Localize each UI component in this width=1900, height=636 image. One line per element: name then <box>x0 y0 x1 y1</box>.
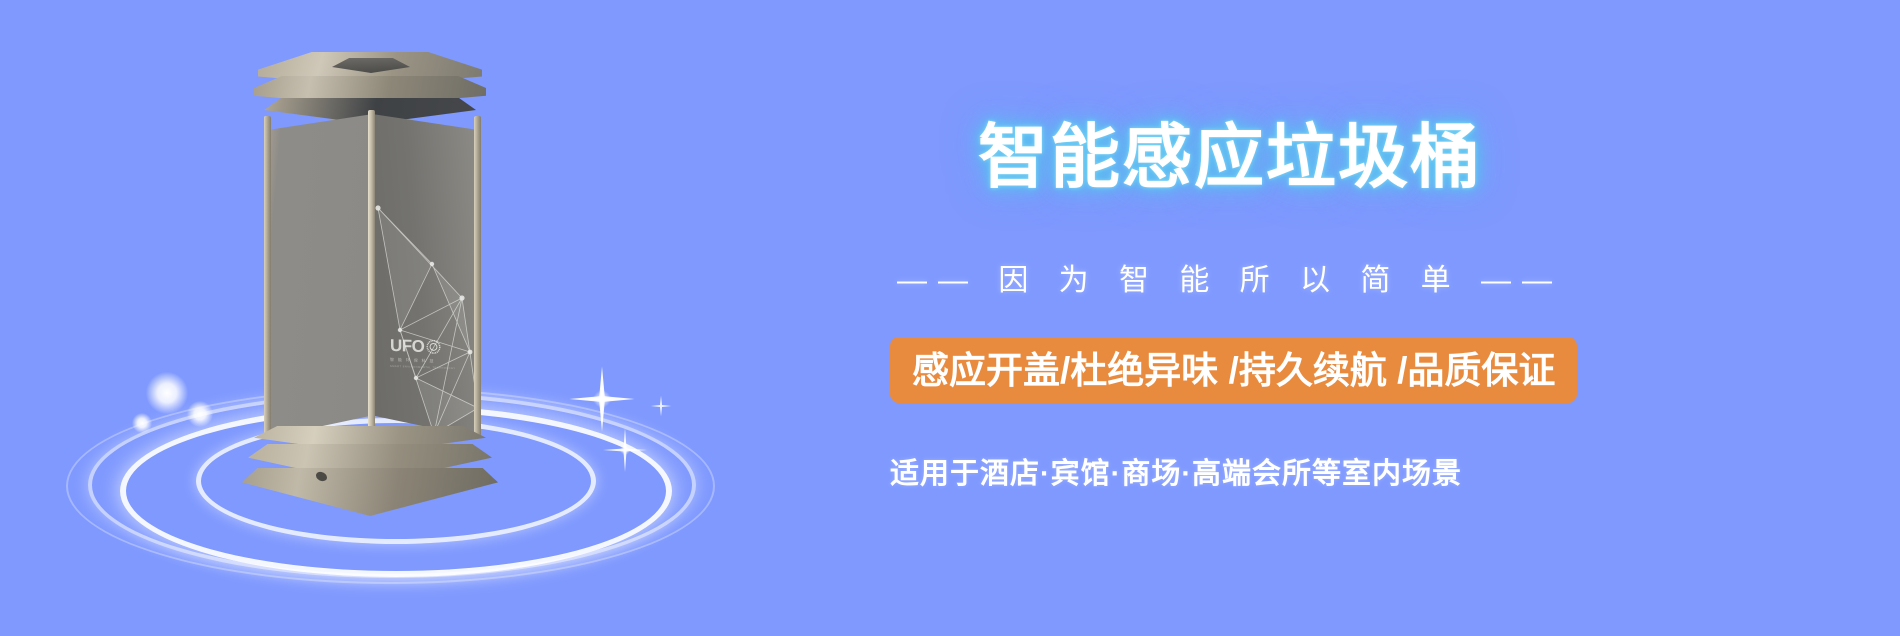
bin-corner-post-left <box>264 116 271 436</box>
product-promo-banner: UFO 智 能 环 保 科 技 SMART ENVIRONMENTAL TECH… <box>0 0 1900 636</box>
glow-dot-icon <box>187 401 213 427</box>
features-badge-label: 感应开盖/杜绝异味 /持久续航 /品质保证 <box>912 352 1555 389</box>
sparkle-star-icon <box>600 425 650 475</box>
subheadline: —— 因 为 智 能 所 以 简 单 —— <box>880 255 1580 299</box>
sparkle-star-icon <box>648 393 674 419</box>
sparkle-star-icon <box>568 365 636 433</box>
copy-block: 智能感应垃圾桶 —— 因 为 智 能 所 以 简 单 —— 感应开盖/杜绝异味 … <box>880 0 1890 636</box>
headline: 智能感应垃圾桶 <box>880 122 1580 192</box>
bin-corner-post-right <box>474 116 481 436</box>
bin-face-left <box>266 114 373 438</box>
bin-face-right <box>372 114 480 438</box>
trash-bin-illustration: UFO 智 能 环 保 科 技 SMART ENVIRONMENTAL TECH… <box>240 52 500 472</box>
bin-base-foot <box>242 468 498 516</box>
usage-scenes-text: 适用于酒店·宾馆·商场·高端会所等室内场景 <box>890 450 1462 492</box>
features-badge: 感应开盖/杜绝异味 /持久续航 /品质保证 <box>890 337 1577 403</box>
glow-dot-icon <box>146 372 188 414</box>
product-visual: UFO 智 能 环 保 科 技 SMART ENVIRONMENTAL TECH… <box>0 0 820 636</box>
bin-corner-post-center <box>368 110 375 444</box>
glow-dot-icon <box>132 413 152 433</box>
